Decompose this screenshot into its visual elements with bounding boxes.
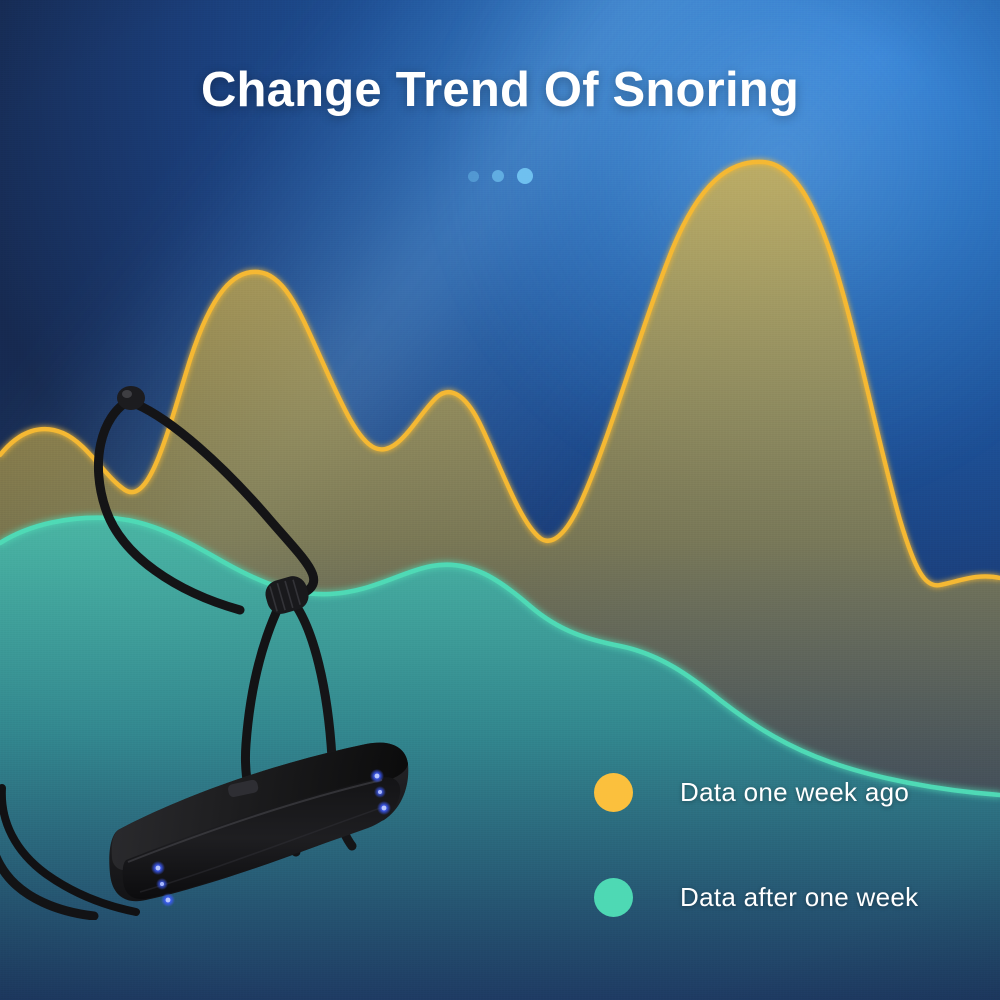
legend-item-before[interactable]: Data one week ago: [594, 772, 918, 812]
device-body: [109, 743, 408, 907]
legend-item-after[interactable]: Data after one week: [594, 877, 918, 917]
cord-bead: [117, 386, 145, 410]
chart-legend: Data one week ago Data after one week: [594, 772, 918, 917]
legend-dot-teal-icon: [594, 878, 633, 917]
dot-2-icon[interactable]: [492, 170, 504, 182]
dot-3-icon[interactable]: [517, 168, 533, 184]
dot-1-icon[interactable]: [468, 171, 479, 182]
anti-snoring-device: [0, 360, 460, 920]
legend-label-before: Data one week ago: [680, 777, 909, 808]
pagination-dots[interactable]: [0, 168, 1000, 184]
legend-label-after: Data after one week: [680, 882, 918, 913]
legend-dot-amber-icon: [594, 773, 633, 812]
cord-lock: [262, 573, 312, 617]
page-title: Change Trend Of Snoring: [0, 62, 1000, 118]
promo-image: Change Trend Of Snoring Data one week ag…: [0, 0, 1000, 1000]
